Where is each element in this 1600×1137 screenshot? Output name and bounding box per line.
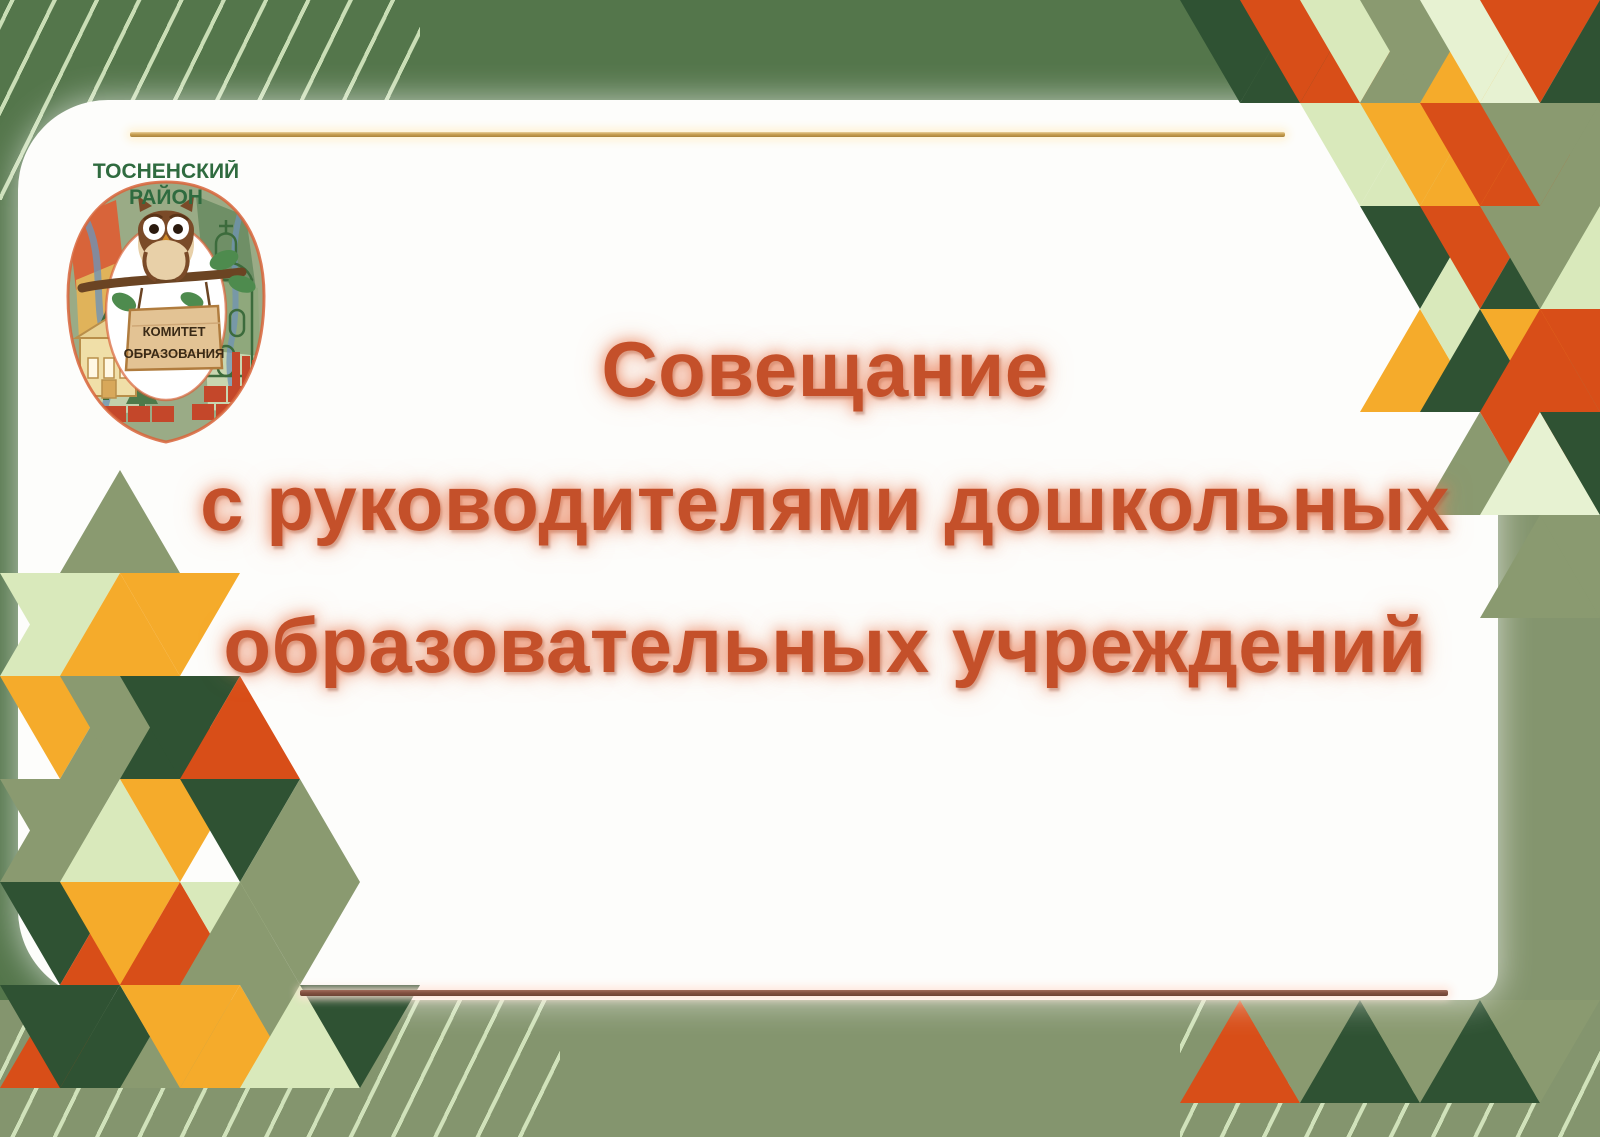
top-gold-rule [130,132,1285,137]
bottom-brown-rule [300,990,1448,996]
presentation-slide: КОМИТЕТ ОБРАЗОВАНИЯ ТОСНЕНСКИЙ РАЙОН Сов… [0,0,1600,1137]
title-line-2: с руководителями дошкольных [190,464,1460,542]
title-line-3: образовательных учреждений [190,606,1460,684]
logo-top-line1: ТОСНЕНСКИЙ [93,160,239,183]
background-green-bottom [0,1000,1600,1137]
logo-top-line2: РАЙОН [129,185,203,209]
title-line-1: Совещание [190,330,1460,408]
title-block: Совещание с руководителями дошкольных об… [190,330,1460,684]
